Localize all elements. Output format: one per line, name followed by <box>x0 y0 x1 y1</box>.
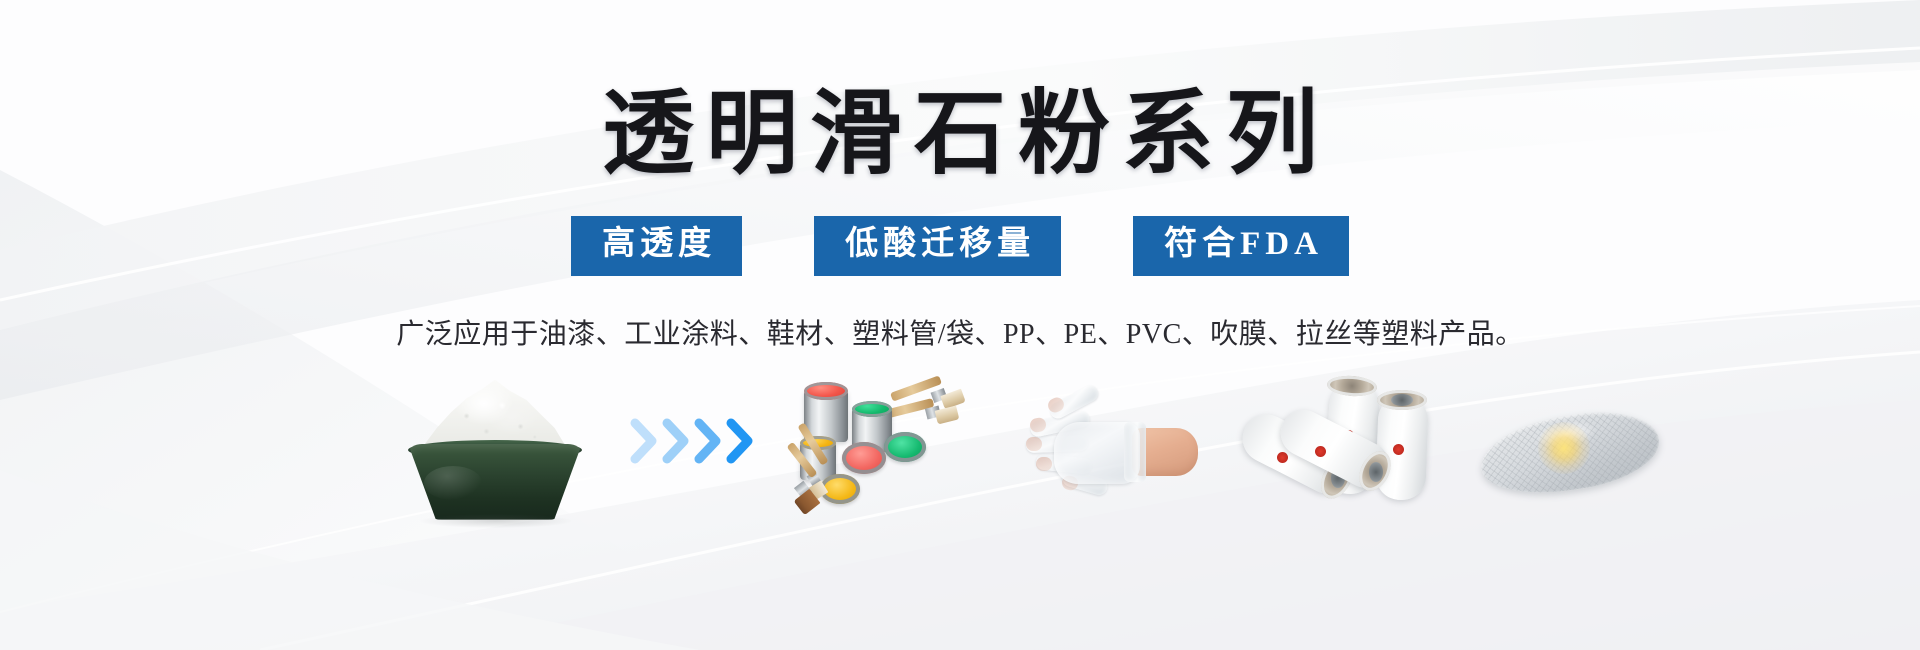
badge-high-transparency[interactable]: 高透度 <box>571 216 742 276</box>
badge-low-acid-migration[interactable]: 低酸迁移量 <box>814 216 1061 276</box>
paint-can-red-surface <box>804 382 848 400</box>
page-title: 透明滑石粉系列 <box>590 88 1330 180</box>
film-roll-front-left-label <box>1277 452 1288 463</box>
chevron-right-icon-4 <box>726 418 756 464</box>
talc-powder-bowl-image <box>390 378 600 528</box>
chevron-right-icon-3 <box>694 418 724 464</box>
banner-content: 透明滑石粉系列 高透度 低酸迁移量 符合FDA 广泛应用于油漆、工业涂料、鞋材、… <box>0 0 1920 650</box>
paint-lid-pink <box>842 442 886 474</box>
badge-fda-compliant[interactable]: 符合FDA <box>1133 216 1349 276</box>
glove-cuff <box>1124 422 1146 482</box>
bowl-highlight <box>424 466 482 500</box>
paint-can-green-surface <box>852 401 892 417</box>
product-image-strip <box>0 378 1920 528</box>
plastic-glove-image <box>1010 378 1210 528</box>
film-roll-front-right-core <box>1369 462 1383 482</box>
plastic-film-rolls-image <box>1235 378 1445 528</box>
shoe-sole-glow <box>1538 422 1590 474</box>
film-roll-right-label <box>1393 444 1404 455</box>
chevron-right-icon-2 <box>662 418 692 464</box>
film-roll-right-core <box>1391 394 1413 406</box>
shoe-sole-image <box>1470 378 1670 528</box>
film-roll-front-right-label <box>1315 446 1326 457</box>
process-arrows-icon <box>630 418 760 478</box>
paint-lid-green <box>884 432 926 462</box>
chevron-right-icon-1 <box>630 418 660 464</box>
product-banner: 透明滑石粉系列 高透度 低酸迁移量 符合FDA 广泛应用于油漆、工业涂料、鞋材、… <box>0 0 1920 650</box>
application-description: 广泛应用于油漆、工业涂料、鞋材、塑料管/袋、PP、PE、PVC、吹膜、拉丝等塑料… <box>396 312 1524 352</box>
glove-finger-ring-tip <box>1026 437 1042 451</box>
feature-badge-group: 高透度 低酸迁移量 符合FDA <box>571 216 1349 276</box>
glove-finger-little-tip <box>1036 457 1052 471</box>
bowl-drop-shadow <box>420 514 572 528</box>
paint-cans-image <box>780 378 980 528</box>
